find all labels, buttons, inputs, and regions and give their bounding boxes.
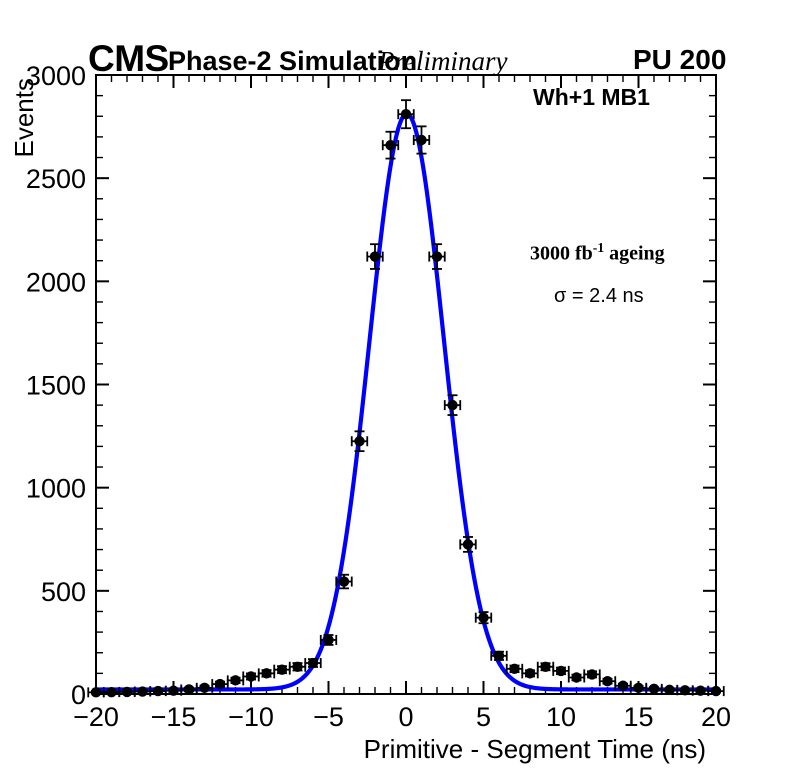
x-tick-label: −5 [313, 702, 344, 732]
data-marker [308, 658, 318, 668]
data-marker [587, 669, 597, 679]
data-marker [106, 687, 116, 697]
data-marker [509, 664, 519, 674]
plot-frame [96, 75, 716, 694]
data-marker [618, 681, 628, 691]
data-marker [711, 686, 721, 696]
y-tick-label: 1000 [26, 474, 86, 504]
x-tick-label: −15 [151, 702, 197, 732]
fit-line [96, 114, 716, 690]
chart-svg: −20−15−10−505101520 05001000150020002500… [0, 0, 796, 772]
data-marker [91, 687, 101, 697]
data-marker [385, 140, 395, 150]
data-marker [323, 635, 333, 645]
data-point [243, 671, 259, 681]
data-point [522, 668, 538, 678]
y-axis-ticks [96, 75, 716, 694]
data-marker [153, 686, 163, 696]
x-tick-label: −10 [228, 702, 274, 732]
data-marker [478, 612, 488, 622]
x-tick-label: 0 [398, 702, 413, 732]
data-marker [525, 668, 535, 678]
x-axis-ticks [96, 75, 716, 694]
data-marker [602, 676, 612, 686]
plot-canvas: CMS Phase-2 Simulation Preliminary PU 20… [0, 0, 796, 772]
y-tick-label: 500 [41, 577, 86, 607]
y-tick-label: 1500 [26, 371, 86, 401]
data-marker [199, 683, 209, 693]
data-marker [571, 672, 581, 682]
axis-frame [96, 75, 716, 694]
data-marker [401, 109, 411, 119]
data-point [600, 676, 616, 686]
data-marker [556, 666, 566, 676]
data-point [476, 612, 492, 623]
y-tick-label: 2000 [26, 267, 86, 297]
data-marker [370, 251, 380, 261]
data-marker [494, 651, 504, 661]
data-marker [137, 686, 147, 696]
data-point [584, 669, 600, 679]
data-marker [447, 400, 457, 410]
x-axis-title: Primitive - Segment Time (ns) [364, 734, 706, 764]
x-axis-tick-labels: −20−15−10−505101520 [73, 702, 731, 732]
data-marker [633, 683, 643, 693]
data-marker [695, 685, 705, 695]
data-marker [432, 251, 442, 261]
data-point [445, 395, 461, 415]
data-marker [354, 436, 364, 446]
x-tick-label: 15 [623, 702, 653, 732]
gaussian-fit-curve [96, 114, 716, 690]
data-point [569, 672, 585, 682]
y-axis-title: Events [9, 78, 39, 158]
data-marker [649, 684, 659, 694]
data-marker [463, 539, 473, 549]
data-marker [246, 671, 256, 681]
data-point [460, 537, 476, 552]
data-marker [122, 687, 132, 697]
data-marker [168, 685, 178, 695]
data-points-group [88, 100, 724, 697]
data-marker [230, 675, 240, 685]
y-tick-label: 0 [71, 680, 86, 710]
data-point [538, 662, 554, 672]
data-point [646, 684, 662, 694]
y-tick-label: 2500 [26, 164, 86, 194]
data-marker [664, 685, 674, 695]
x-tick-label: 10 [546, 702, 576, 732]
data-marker [416, 135, 426, 145]
x-tick-label: 5 [476, 702, 491, 732]
x-tick-label: 20 [701, 702, 731, 732]
data-point [290, 662, 306, 672]
data-point [429, 244, 445, 269]
data-marker [292, 662, 302, 672]
data-point [553, 666, 569, 676]
data-point [228, 675, 244, 685]
data-marker [261, 668, 271, 678]
data-marker [680, 685, 690, 695]
data-point [259, 668, 275, 678]
data-marker [184, 684, 194, 694]
data-point [274, 664, 290, 674]
data-marker [215, 679, 225, 689]
data-marker [540, 662, 550, 672]
data-marker [277, 664, 287, 674]
data-point [507, 664, 523, 674]
data-point [352, 431, 368, 451]
data-marker [339, 576, 349, 586]
